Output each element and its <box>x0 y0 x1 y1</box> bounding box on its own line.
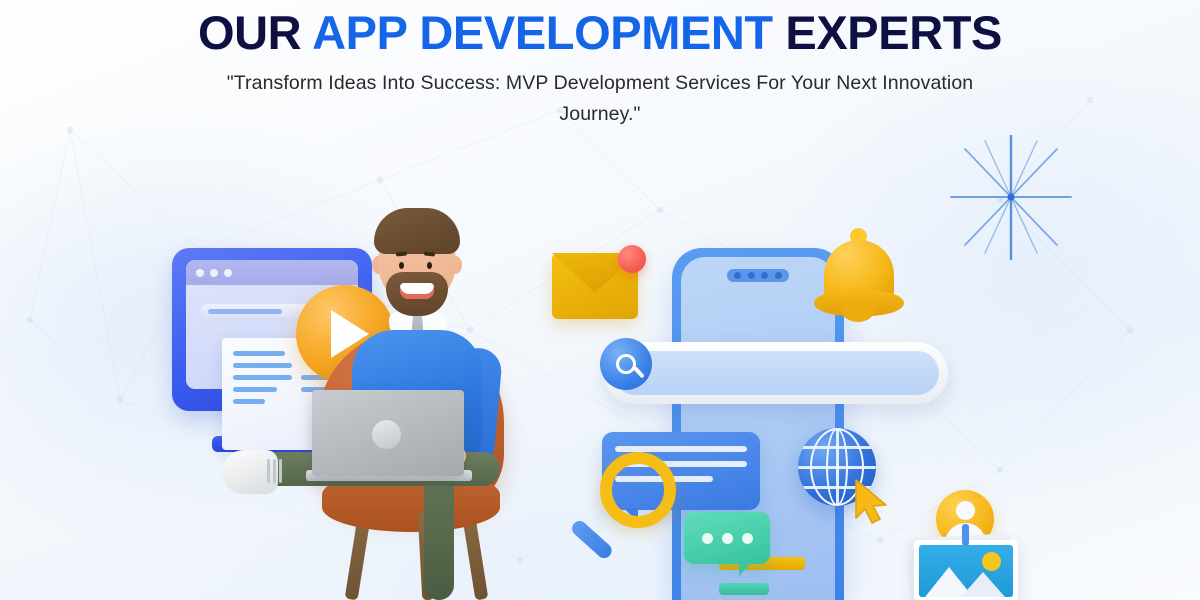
browser-title-bar <box>186 260 358 285</box>
speaker-dot <box>734 272 741 279</box>
magnifier-handle <box>569 518 615 561</box>
phone-content-bar-teal <box>719 583 769 595</box>
character-eye <box>427 262 432 269</box>
typing-dot <box>742 533 753 544</box>
search-icon <box>616 354 636 374</box>
page-title: OUR APP DEVELOPMENT EXPERTS <box>0 0 1200 57</box>
character-shoe <box>222 450 278 494</box>
photo-mountain-icon <box>961 572 1005 597</box>
title-part-1: OUR <box>198 6 312 59</box>
photo-image-icon <box>919 545 1013 597</box>
search-input-field[interactable] <box>613 351 939 395</box>
doc-text-line <box>233 375 292 380</box>
search-button[interactable] <box>600 338 652 390</box>
character-shin <box>424 470 454 600</box>
globe-meridian <box>826 428 848 506</box>
doc-text-line <box>233 363 292 368</box>
typing-dot <box>722 533 733 544</box>
title-accent: APP DEVELOPMENT <box>312 6 773 59</box>
bell-clapper <box>842 300 874 322</box>
cursor-arrow-icon <box>852 478 894 526</box>
window-dot-minimize-icon <box>210 269 218 277</box>
avatar-head-icon <box>956 501 975 520</box>
window-dot-maximize-icon <box>224 269 232 277</box>
speaker-dot <box>775 272 782 279</box>
avatar-tie-icon <box>962 524 969 546</box>
banner-header: OUR APP DEVELOPMENT EXPERTS "Transform I… <box>0 0 1200 129</box>
photo-sun-icon <box>982 552 1001 571</box>
notification-badge-dot <box>618 245 646 273</box>
sparkle-burst-icon <box>945 135 1077 260</box>
email-envelope-icon <box>552 253 638 319</box>
laptop-logo-icon <box>372 420 401 449</box>
typing-dot <box>702 533 713 544</box>
hero-banner: OUR APP DEVELOPMENT EXPERTS "Transform I… <box>0 0 1200 600</box>
magnifier-lens <box>600 452 676 528</box>
character-hair <box>374 208 460 254</box>
title-part-2: EXPERTS <box>773 6 1002 59</box>
doc-text-line <box>233 387 277 392</box>
page-subtitle: "Transform Ideas Into Success: MVP Devel… <box>185 68 1015 128</box>
speaker-dot <box>761 272 768 279</box>
chat-bubble-green <box>684 512 770 564</box>
search-bar[interactable] <box>604 342 948 404</box>
magnifying-glass-icon <box>576 452 686 570</box>
phone-speaker-grill <box>727 269 789 282</box>
character-mouth <box>400 283 434 299</box>
doc-text-line <box>233 399 265 404</box>
doc-heading-line <box>233 351 285 356</box>
notification-bell-icon <box>812 224 904 320</box>
window-dot-close-icon <box>196 269 204 277</box>
photo-card <box>914 540 1018 600</box>
laptop-lid <box>312 390 464 476</box>
character-eye <box>399 262 404 269</box>
speaker-dot <box>748 272 755 279</box>
